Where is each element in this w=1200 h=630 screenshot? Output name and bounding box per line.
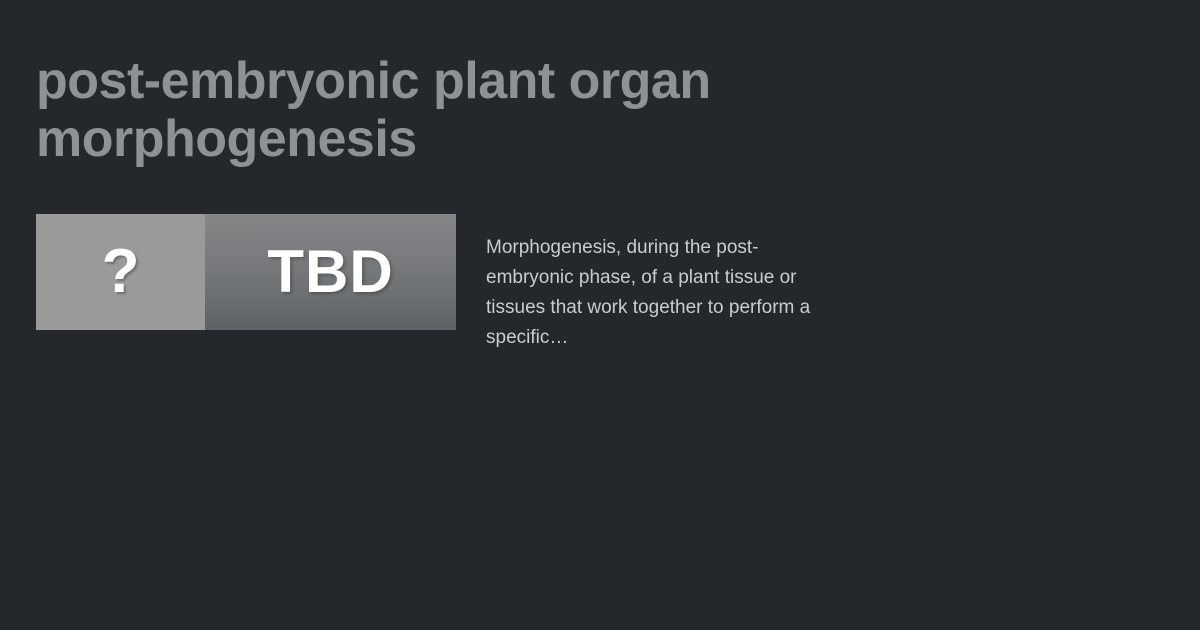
content-row: ? TBD Morphogenesis, during the post-emb… bbox=[36, 214, 1166, 372]
placeholder-thumbnail: ? TBD bbox=[36, 214, 456, 330]
thumbnail-right-panel: TBD bbox=[205, 214, 456, 330]
summary-text: Morphogenesis, during the post-embryonic… bbox=[486, 233, 816, 353]
thumbnail-left-panel: ? bbox=[36, 214, 205, 330]
question-mark-icon: ? bbox=[102, 241, 140, 303]
preview-card: post-embryonic plant organ morphogenesis… bbox=[0, 0, 1200, 630]
tbd-label: TBD bbox=[267, 242, 393, 302]
page-title: post-embryonic plant organ morphogenesis bbox=[36, 52, 1036, 168]
